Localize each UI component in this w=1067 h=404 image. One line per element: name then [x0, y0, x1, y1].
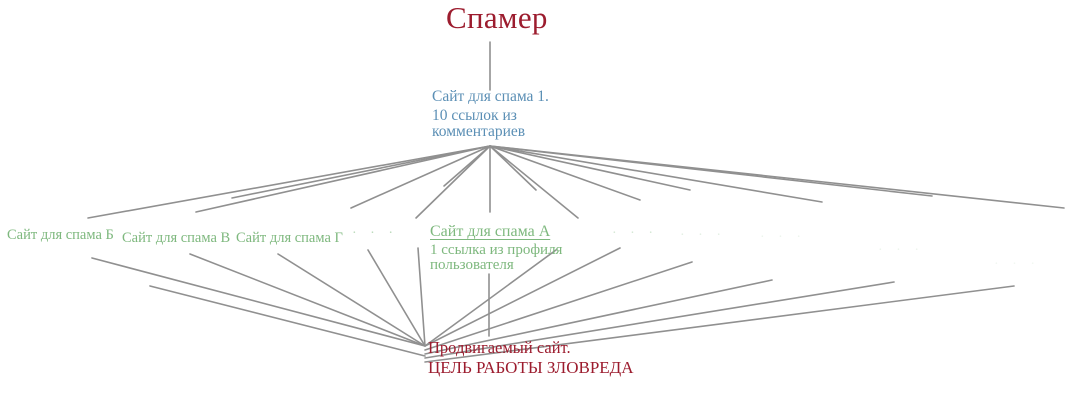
- node-spammer: Спамер: [446, 2, 548, 35]
- node-target-site: Продвигаемый сайт. ЦЕЛЬ РАБОТЫ ЗЛОВРЕДА: [428, 339, 634, 377]
- edge-fan-up-13: [490, 146, 932, 196]
- ellipsis-more-sites-6: · · ·: [994, 257, 1040, 273]
- edge-fan-dn-5: [418, 248, 425, 346]
- edge-fan-up-6: [444, 146, 490, 186]
- node-spam-site-v: Сайт для спама В: [122, 231, 230, 246]
- diagram-canvas: Спамер Сайт для спама 1. 10 ссылок из ко…: [0, 0, 1067, 404]
- edge-fan-up-9: [490, 146, 578, 218]
- node-spam-site-g-label: Сайт для спама Г: [236, 230, 343, 246]
- ellipsis-more-sites-1: · · ·: [352, 226, 398, 242]
- edge-fan-dn-1: [92, 258, 425, 346]
- ellipsis-more-sites-4: · · ·: [760, 230, 806, 246]
- node-spam-site-v-label: Сайт для спама В: [122, 230, 230, 246]
- edge-fan-dn-9: [425, 262, 692, 350]
- edge-fan-up-8: [490, 146, 536, 190]
- node-spam-site-b-label: Сайт для спама Б: [7, 227, 114, 243]
- node-spam-site-1: Сайт для спама 1. 10 ссылок из комментар…: [432, 89, 549, 140]
- node-spam-site-g: Сайт для спама Г: [236, 231, 343, 246]
- node-spam-site-a-detail: 1 ссылка из профиля пользователя: [430, 243, 562, 273]
- ellipsis-more-sites-2: · · ·: [612, 226, 658, 242]
- edge-fan-dn-3: [278, 254, 425, 346]
- node-target-site-label: Продвигаемый сайт.: [428, 338, 571, 357]
- node-spam-site-a-label: Сайт для спама А: [430, 223, 550, 240]
- edge-fan-dn-2: [190, 254, 425, 346]
- edge-fan-up-11: [490, 146, 690, 190]
- edge-fan-dn-4: [368, 250, 425, 346]
- edge-fan-up-2: [196, 146, 490, 212]
- edge-fan-up-14: [490, 146, 1064, 208]
- node-spam-site-1-label: Сайт для спама 1.: [432, 88, 549, 105]
- node-spammer-label: Спамер: [446, 0, 548, 35]
- edge-fan-up-3: [232, 146, 490, 198]
- ellipsis-more-sites-3: · · ·: [680, 228, 726, 244]
- node-spam-site-a: Сайт для спама А 1 ссылка из профиля пол…: [430, 224, 562, 273]
- node-spam-site-1-detail: 10 ссылок из комментариев: [432, 108, 549, 140]
- edge-fan-dn-6: [150, 286, 425, 356]
- ellipsis-more-sites-5: · · ·: [878, 243, 924, 259]
- node-target-site-detail: ЦЕЛЬ РАБОТЫ ЗЛОВРЕДА: [428, 359, 634, 377]
- edge-fan-up-1: [88, 146, 490, 218]
- edge-fan-up-5: [416, 146, 490, 218]
- edge-fan-up-10: [490, 146, 640, 200]
- edge-fan-up-4: [351, 146, 490, 208]
- edge-fan-up-12: [490, 146, 822, 202]
- node-spam-site-b: Сайт для спама Б: [7, 228, 114, 243]
